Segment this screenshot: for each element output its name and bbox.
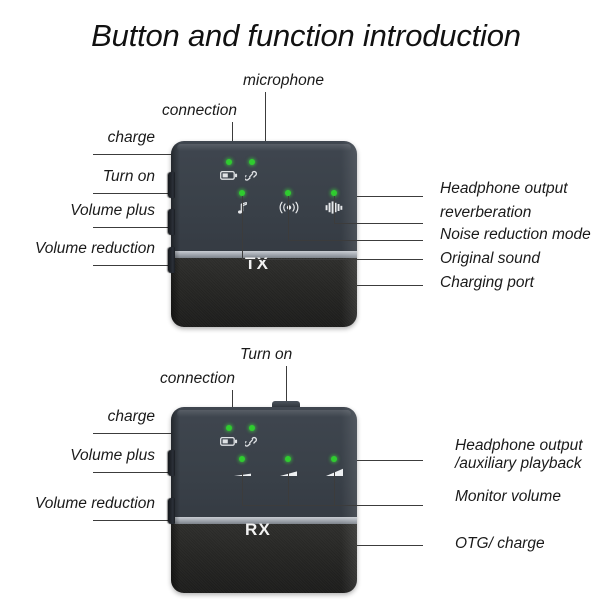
link-icon [245,169,258,182]
tx-leader-turn-on [93,193,172,194]
rx-leader-volume-reduction [93,520,172,521]
tx-label-reverberation: reverberation [440,204,531,221]
noise-reduction-icon [279,201,299,214]
rx-device-top-panel [171,407,357,520]
rx-leader-otg-charge [357,545,423,546]
rx-leader-volume-plus [93,472,172,473]
rx-label-volume-plus: Volume plus [0,447,155,464]
tx-label-original-sound: Original sound [440,250,540,267]
rx-label-auxiliary-playback: /auxiliary playback [455,455,582,472]
diagram-page: Button and function introduction microph… [0,0,612,612]
tx-label-turn-on: Turn on [0,168,155,185]
tx-leader-volume-plus [93,227,172,228]
rx-device-name: RX [245,520,271,540]
tx-button-volume-plus[interactable] [168,209,175,235]
tx-button-volume-reduction[interactable] [168,247,175,273]
rx-led-volume-high [331,456,337,462]
rx-led-volume-mid [285,456,291,462]
rx-label-monitor-volume: Monitor volume [455,488,561,505]
tx-leader-original-sound-v [242,196,243,259]
rx-led-charge [226,425,232,431]
rx-button-volume-plus[interactable] [168,450,175,476]
tx-leader-microphone [265,92,266,142]
tx-device-top-panel [171,141,357,254]
rx-device: RX [171,407,357,593]
page-title: Button and function introduction [0,18,612,54]
tx-leader-volume-reduction [93,265,172,266]
rx-label-otg-charge: OTG/ charge [455,535,545,552]
rx-leader-headphone-output [357,460,423,461]
tx-label-headphone-output: Headphone output [440,180,568,197]
tx-leader-reverberation-h [334,223,423,224]
tx-leader-reverberation-v [334,196,335,223]
rx-label-charge: charge [0,408,155,425]
rx-led-volume-low [239,456,245,462]
tx-label-charge: charge [0,129,155,146]
rx-leader-volume-mid-v [288,472,289,505]
tx-label-microphone: microphone [243,72,324,89]
tx-label-noise-reduction-mode: Noise reduction mode [440,226,591,243]
tx-device-name: TX [245,254,269,274]
tx-leader-charging-port [357,285,423,286]
rx-label-headphone-output: Headphone output [455,437,583,454]
rx-label-connection: connection [160,370,235,387]
tx-led-connection [249,159,255,165]
rx-label-volume-reduction: Volume reduction [0,495,155,512]
battery-icon [220,170,238,181]
tx-leader-noise-reduction-h [288,240,423,241]
tx-leader-noise-reduction-v [288,196,289,240]
rx-leader-volume-low-v [242,472,243,505]
link-icon [245,435,258,448]
tx-device: TX [171,141,357,327]
rx-led-connection [249,425,255,431]
rx-leader-monitor-volume-h [242,505,423,506]
battery-icon [220,436,238,447]
tx-button-power[interactable] [168,172,175,198]
tx-label-volume-reduction: Volume reduction [0,240,155,257]
rx-button-volume-reduction[interactable] [168,498,175,524]
tx-led-charge [226,159,232,165]
tx-label-connection: connection [162,102,237,119]
tx-leader-original-sound-h [242,259,423,260]
tx-label-volume-plus: Volume plus [0,202,155,219]
rx-label-turn-on: Turn on [240,346,292,363]
rx-leader-volume-high-v [334,472,335,505]
tx-leader-headphone-output [357,196,423,197]
tx-label-charging-port: Charging port [440,274,534,291]
